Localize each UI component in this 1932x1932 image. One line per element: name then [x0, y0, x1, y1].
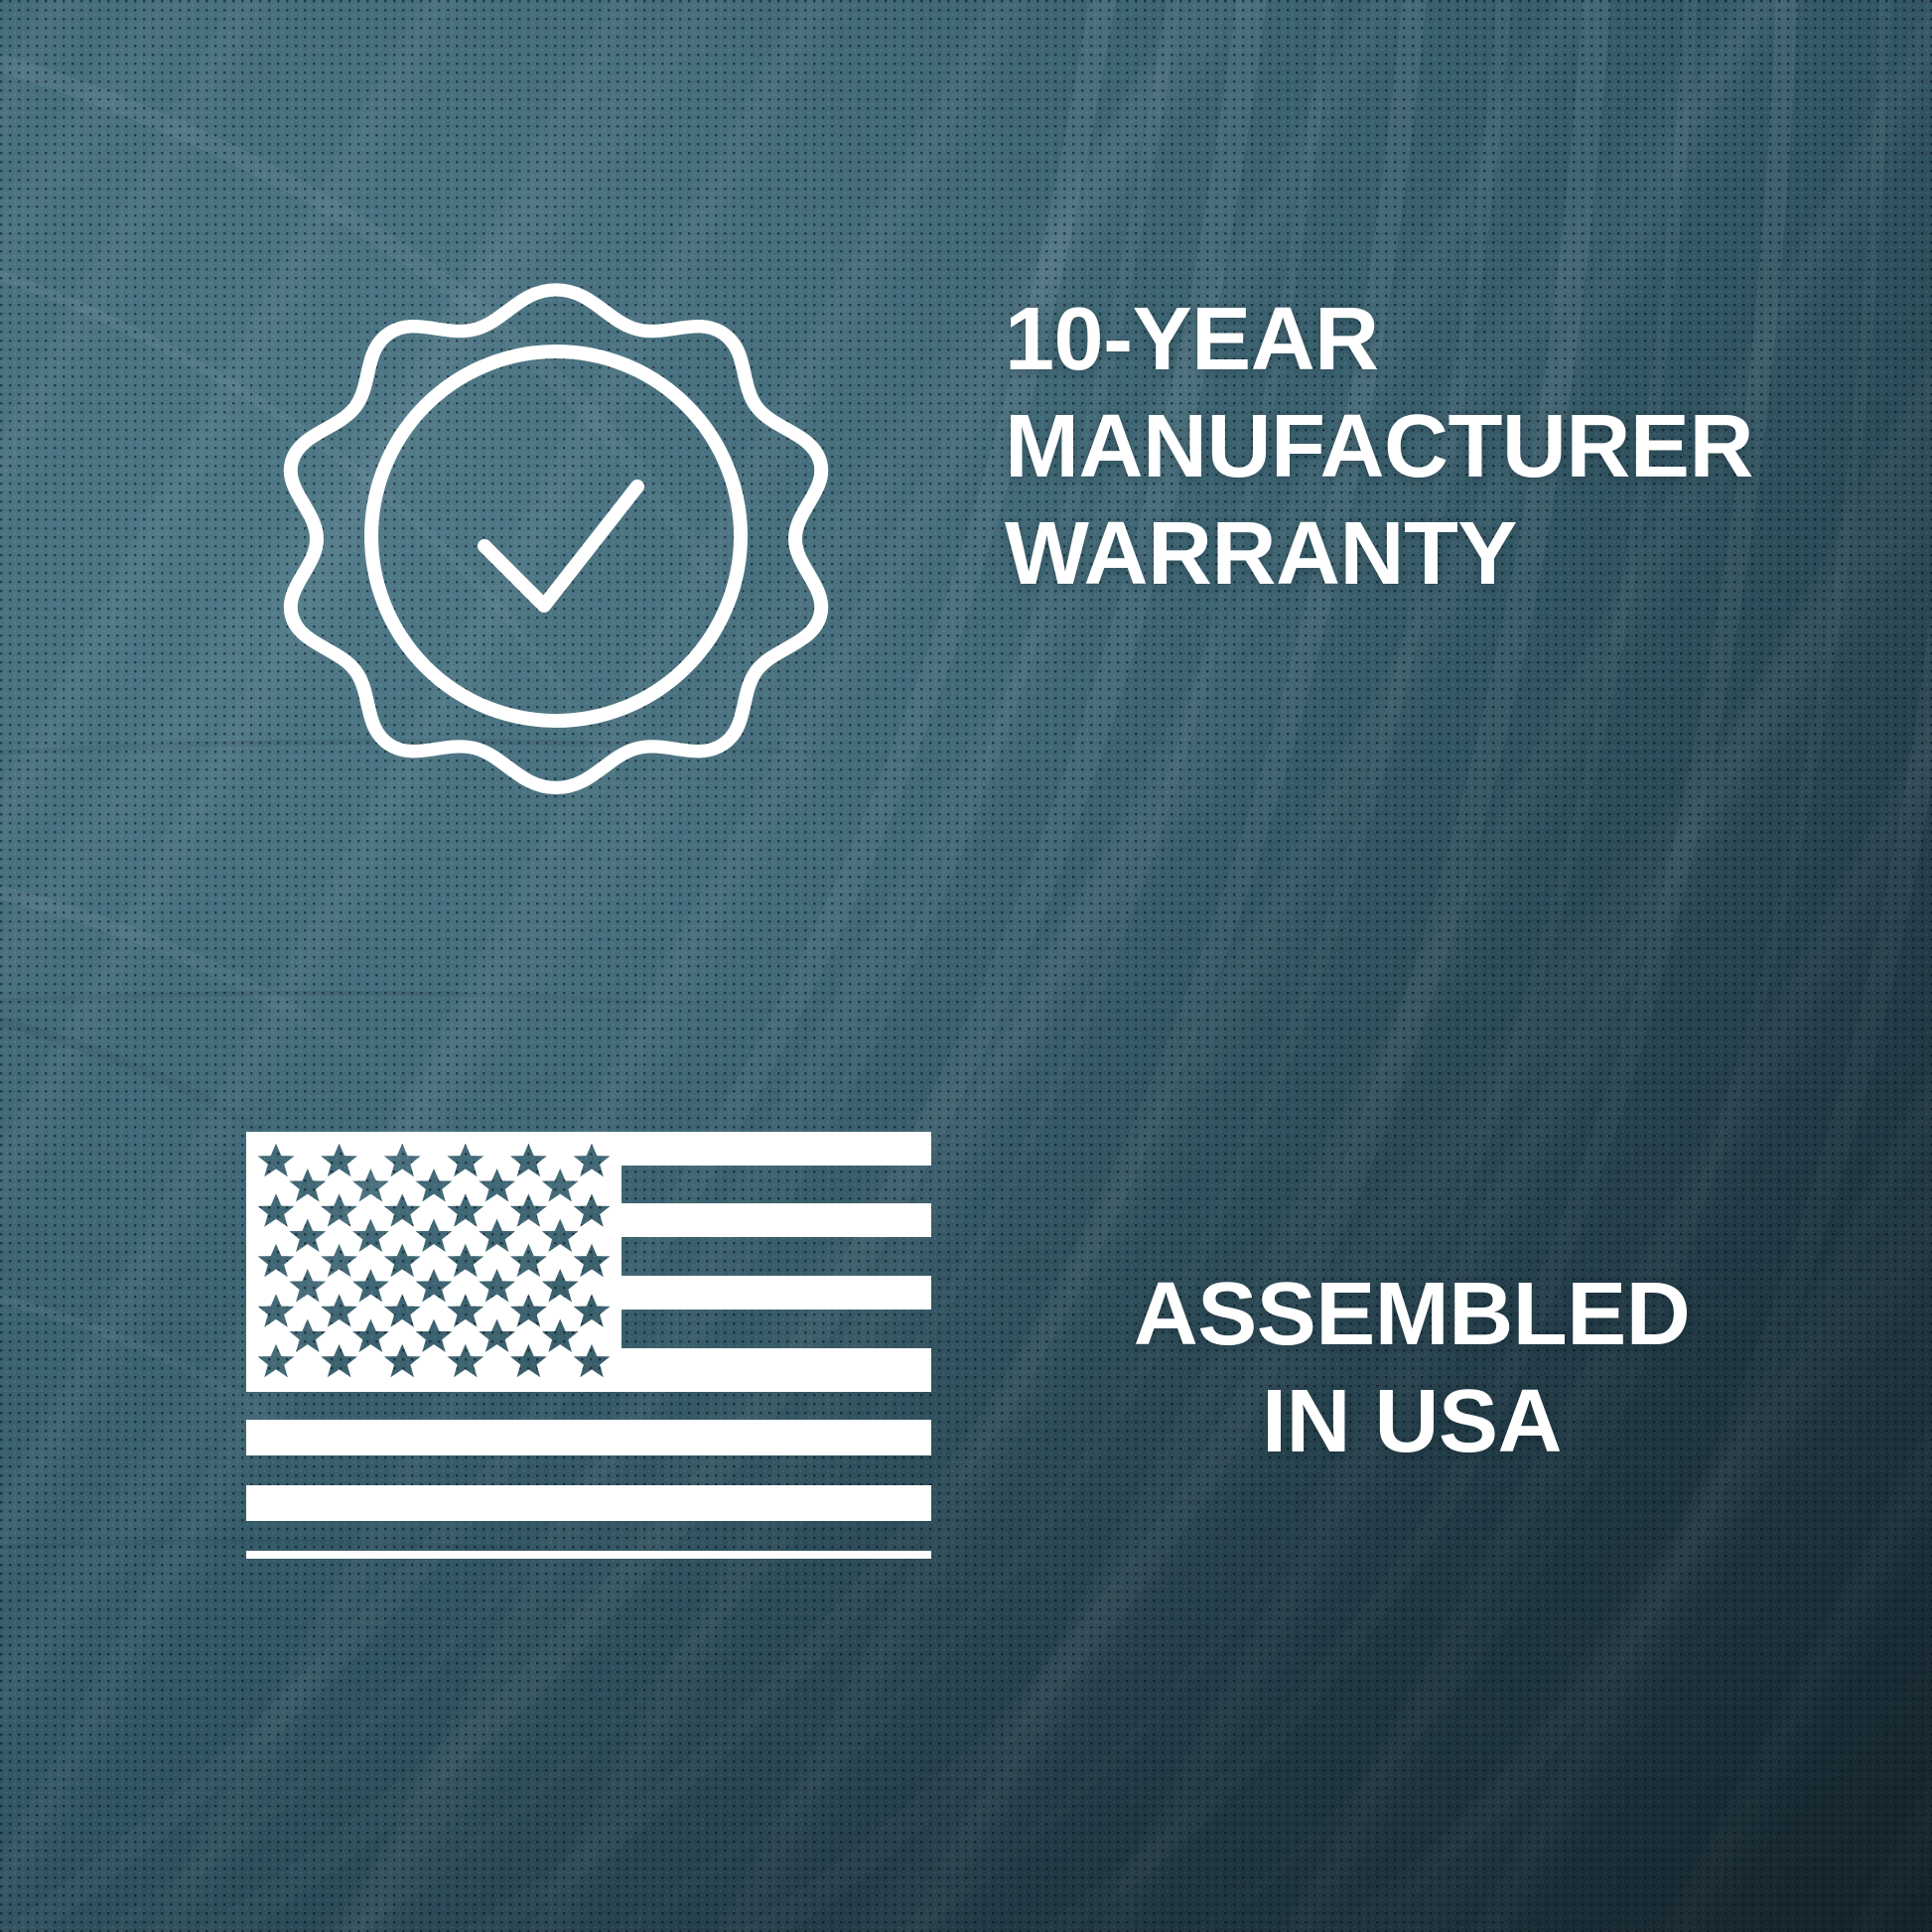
usa-flag-icon — [246, 1132, 931, 1559]
badge-check-seal-icon — [238, 266, 874, 802]
assembly-line-1: ASSEMBLED — [1005, 1261, 1819, 1368]
product-feature-banner: 10-YEAR MANUFACTURER WARRANTY — [0, 0, 1932, 1932]
feature-warranty: 10-YEAR MANUFACTURER WARRANTY — [0, 266, 1932, 802]
warranty-line-2: MANUFACTURER — [1005, 393, 1819, 500]
warranty-text-block: 10-YEAR MANUFACTURER WARRANTY — [1005, 286, 1819, 608]
feature-assembled-in-usa: ASSEMBLED IN USA — [0, 1132, 1932, 1559]
warranty-line-1: 10-YEAR — [1005, 286, 1819, 393]
warranty-line-3: WARRANTY — [1005, 500, 1819, 608]
assembly-line-2: IN USA — [1005, 1368, 1819, 1475]
assembly-text-block: ASSEMBLED IN USA — [1005, 1261, 1819, 1475]
